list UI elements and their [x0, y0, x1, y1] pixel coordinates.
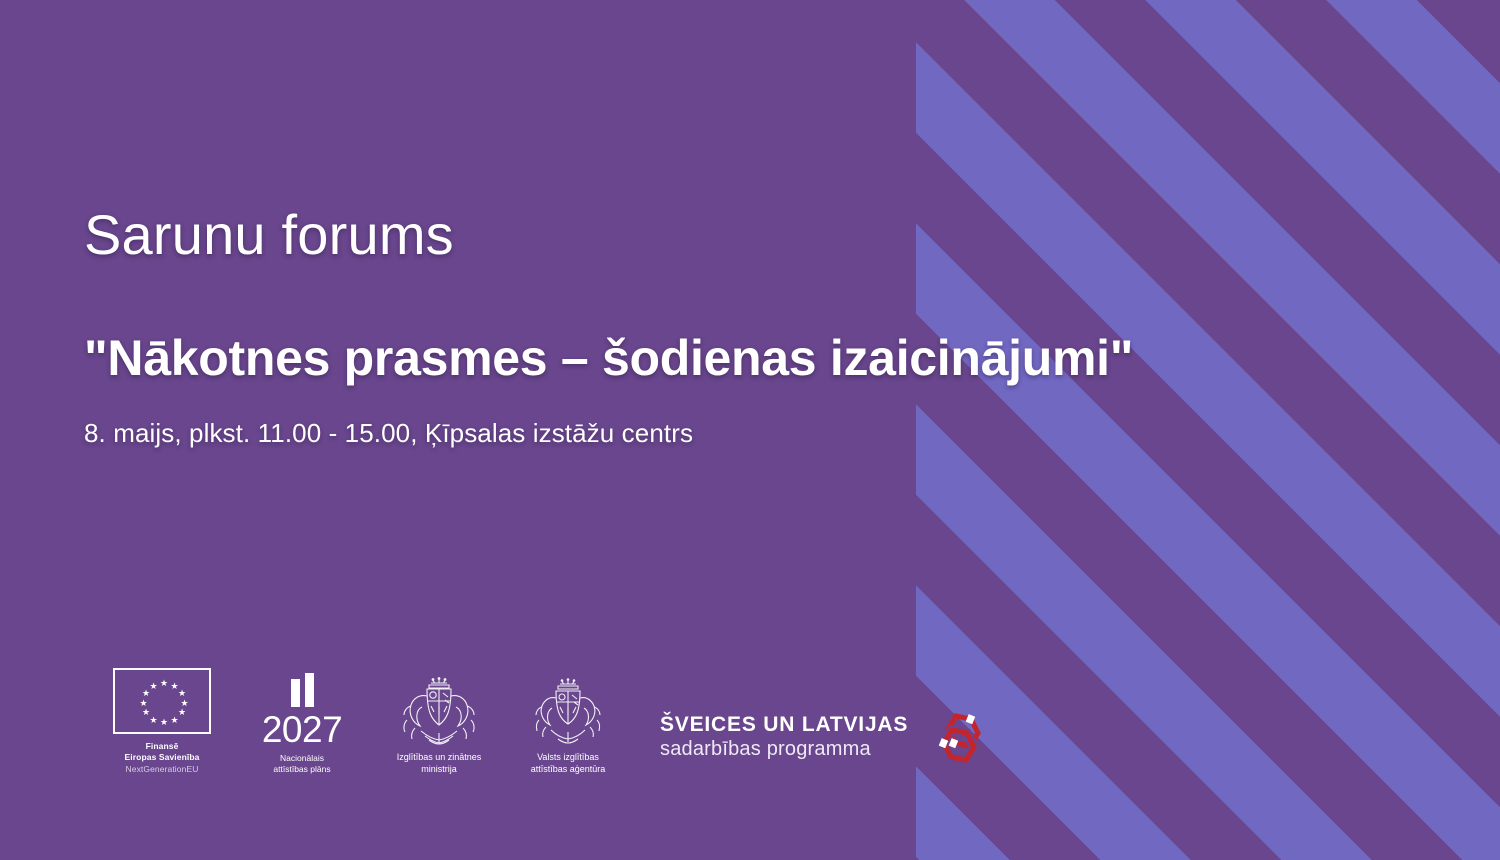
event-poster: Sarunu forums "Nākotnes prasmes – šodien…	[0, 0, 1500, 860]
event-headline: "Nākotnes prasmes – šodienas izaicinājum…	[84, 265, 1384, 386]
national-development-plan-2027-logo: 2027 Nacionālais attīstības plāns	[254, 673, 350, 775]
ministry-of-education-and-science-logo: Izglītības un zinātnes ministrija	[384, 676, 494, 775]
swiss-logo-line2: sadarbības programma	[660, 737, 908, 761]
nap-caption: Nacionālais attīstības plāns	[273, 753, 330, 775]
ministry-caption: Izglītības un zinātnes ministrija	[397, 751, 482, 775]
event-datetime-venue: 8. maijs, plkst. 11.00 - 15.00, Ķīpsalas…	[84, 386, 1384, 449]
swiss-latvian-cooperation-programme-logo: ŠVEICES UN LATVIJAS sadarbības programma	[660, 711, 982, 775]
swiss-logo-text: ŠVEICES UN LATVIJAS sadarbības programma	[660, 713, 908, 761]
eu-caption-line2: Eiropas Savienība	[125, 752, 200, 762]
eu-caption-line1: Finansē	[146, 741, 179, 751]
eu-logo-caption: Finansē Eiropas Savienība NextGeneration…	[125, 741, 200, 775]
nap-year: 2027	[262, 712, 342, 747]
latvian-coat-of-arms-icon	[393, 676, 485, 746]
nap-caption-line2: attīstības plāns	[273, 764, 330, 774]
viaa-caption-line1: Valsts izglītības	[537, 752, 599, 762]
latvian-coat-of-arms-shield-icon	[527, 676, 609, 746]
eu-funding-logo: ★ ★ ★ ★ ★ ★ ★ ★ ★ ★ ★ ★ Finansē Eiropas …	[100, 668, 224, 775]
ministry-caption-line1: Izglītības un zinātnes	[397, 752, 482, 762]
poster-text-block: Sarunu forums "Nākotnes prasmes – šodien…	[84, 206, 1384, 449]
ministry-caption-line2: ministrija	[421, 764, 457, 774]
viaa-caption-line2: attīstības aģentūra	[531, 764, 606, 774]
nap-caption-line1: Nacionālais	[280, 753, 324, 763]
sponsor-logo-row: ★ ★ ★ ★ ★ ★ ★ ★ ★ ★ ★ ★ Finansē Eiropas …	[100, 668, 982, 775]
interlocking-hexagons-icon	[926, 711, 982, 763]
nap-bars-icon	[291, 673, 314, 707]
event-kicker: Sarunu forums	[84, 206, 1384, 265]
viaa-caption: Valsts izglītības attīstības aģentūra	[531, 751, 606, 775]
eu-flag-icon: ★ ★ ★ ★ ★ ★ ★ ★ ★ ★ ★ ★	[113, 668, 211, 734]
eu-caption-line3: NextGenerationEU	[125, 764, 200, 775]
state-education-development-agency-logo: Valsts izglītības attīstības aģentūra	[508, 676, 628, 775]
swiss-logo-line1: ŠVEICES UN LATVIJAS	[660, 713, 908, 737]
